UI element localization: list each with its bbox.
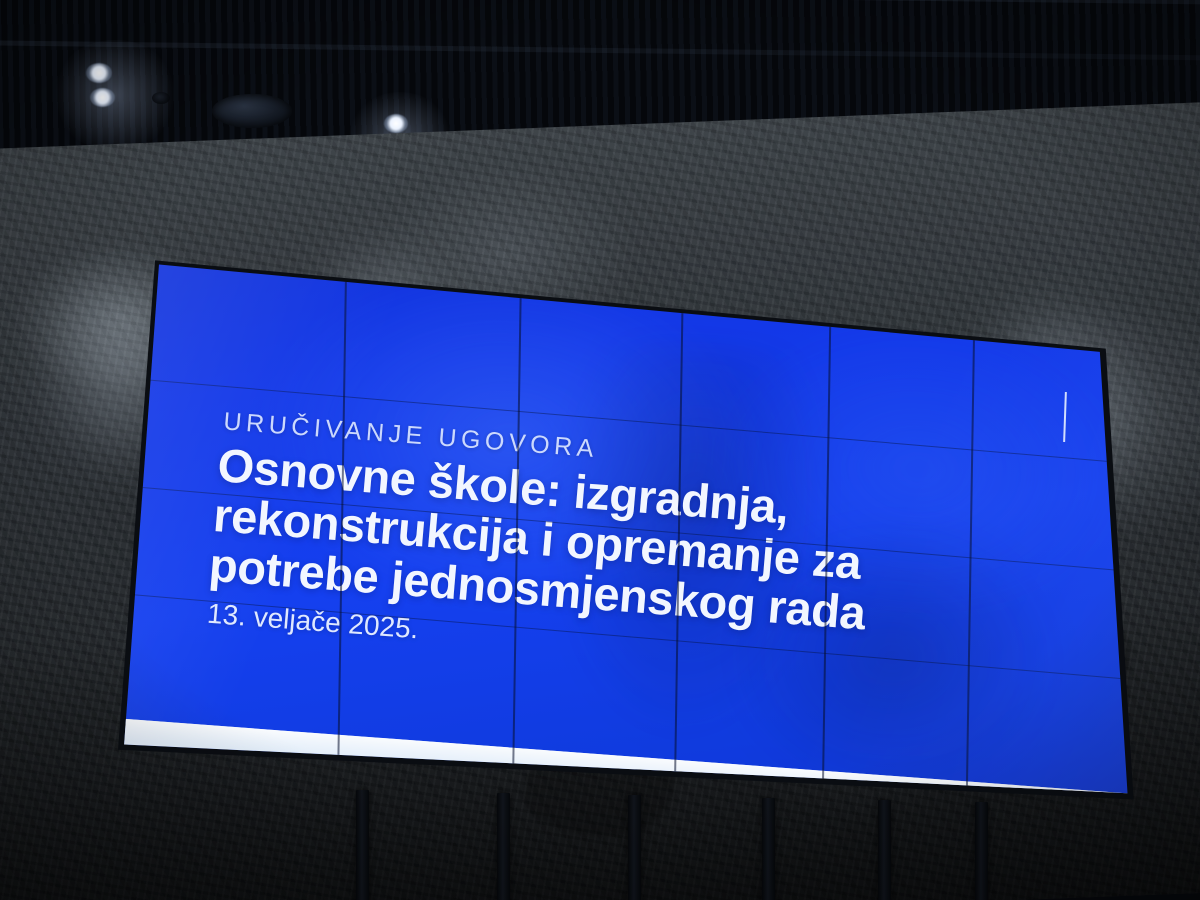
photo-scene: URUČIVANJE UGOVORA Osnovne škole: izgrad… [0, 0, 1200, 900]
ceiling-fixture [152, 92, 170, 104]
ceiling-beam [0, 39, 1200, 61]
ceiling-speaker-fixture [212, 94, 292, 128]
spotlight-icon [90, 88, 115, 107]
display-stand-pole [878, 800, 891, 900]
display-stand-pole [975, 802, 988, 900]
display-stand-pole [497, 793, 510, 900]
ceiling-beam [0, 0, 1200, 6]
spotlight-icon [86, 63, 112, 83]
display-stand-pole [628, 795, 641, 900]
display-stand-pole [762, 798, 775, 900]
spotlight-icon [384, 114, 408, 133]
display-stand-pole [356, 790, 369, 900]
